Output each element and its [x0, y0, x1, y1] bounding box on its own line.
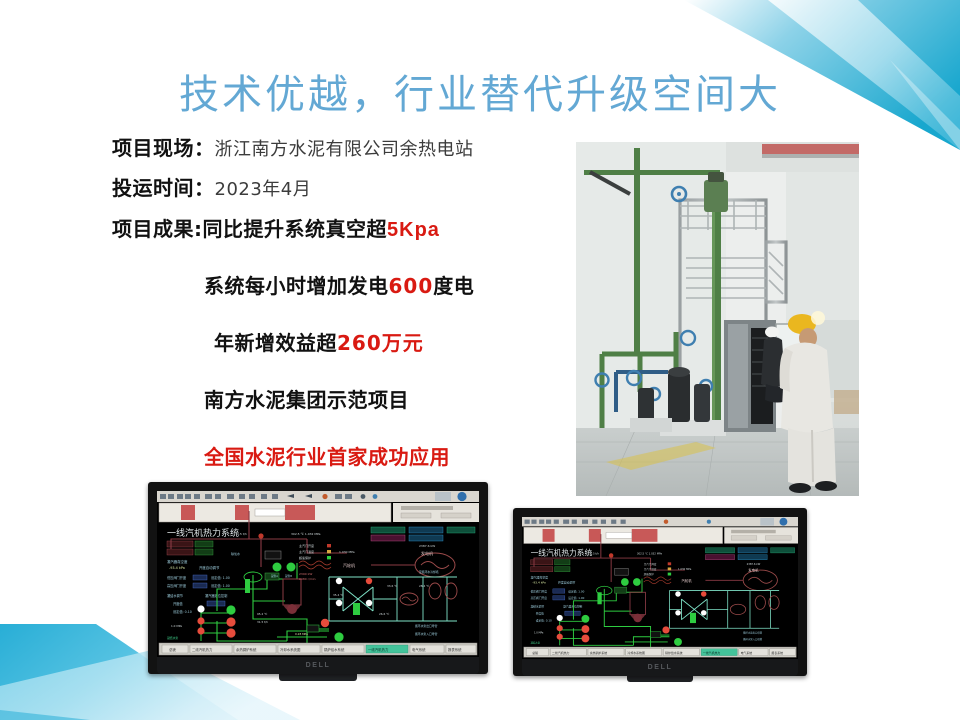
svg-text:至循环水冷却塔: 至循环水冷却塔 [419, 570, 439, 574]
svg-text:二线汽机热力: 二线汽机热力 [552, 650, 570, 655]
svg-text:冷却水系统图: 冷却水系统图 [280, 647, 301, 652]
site-value: 浙江南方水泥有限公司余热电站 [215, 139, 474, 160]
svg-text:设定值: 0.10: 设定值: 0.10 [173, 609, 192, 614]
svg-text:低压阀门开度: 低压阀门开度 [167, 575, 187, 580]
svg-text:一线汽机热力: 一线汽机热力 [703, 650, 721, 655]
svg-text:循环水泵入口母管: 循环水泵入口母管 [743, 637, 763, 641]
svg-text:高压阀门开度: 高压阀门开度 [167, 583, 187, 588]
svg-text:低压阀门开度: 低压阀门开度 [531, 589, 548, 593]
svg-text:除氧水: 除氧水 [231, 551, 240, 556]
svg-text:2387.6 kW: 2387.6 kW [747, 562, 761, 566]
svg-text:冷却水系统图: 冷却水系统图 [627, 650, 645, 655]
svg-text:凝汽器液位控制: 凝汽器液位控制 [563, 605, 582, 609]
svg-text:凝结水泵: 凝结水泵 [167, 636, 178, 640]
svg-text:凝汽器真空度: 凝汽器真空度 [167, 559, 188, 564]
svg-text:报表系统: 报表系统 [448, 647, 462, 652]
svg-text:发电机: 发电机 [748, 568, 759, 573]
svg-text:1.0 MPa: 1.0 MPa [534, 631, 544, 634]
svg-text:发电机: 发电机 [421, 550, 433, 556]
svg-text:开度自动调节: 开度自动调节 [199, 565, 220, 570]
svg-text:主汽门开度: 主汽门开度 [299, 543, 314, 548]
svg-text:凝汽器液位控制: 凝汽器液位控制 [205, 593, 227, 598]
svg-text:一线汽机热力系统: 一线汽机热力系统 [531, 548, 593, 558]
svg-text:1.030 MPa: 1.030 MPa [339, 550, 355, 554]
svg-text:95.2 ℃: 95.2 ℃ [257, 612, 267, 616]
date-label: 投运时间： [112, 176, 215, 200]
bullet-1-prefix: 系统每小时增加发电 [204, 274, 389, 298]
svg-text:开度自动调节: 开度自动调节 [558, 580, 576, 585]
svg-text:31.5 t/h: 31.5 t/h [257, 620, 268, 624]
bullet-1-highlight: 600 [389, 274, 434, 298]
svg-text:余热锅炉系统: 余热锅炉系统 [590, 650, 608, 655]
svg-text:锅炉给水系统: 锅炉给水系统 [665, 650, 683, 655]
monitor-1-brand-logo: DELL [306, 662, 331, 669]
bullet-4-prefix: 全国水泥行业首家成功应用 [204, 445, 450, 469]
svg-text:-93.4 kPa: -93.4 kPa [169, 566, 185, 570]
svg-text:35.4 ℃: 35.4 ℃ [333, 593, 343, 597]
svg-text:总貌: 总貌 [532, 650, 538, 655]
monitor-1: 一线汽机热力系统 凝汽器真空度 -93.4 kPa 开度自动调节 [148, 482, 488, 681]
bullet-item-3: 南方水泥集团示范项目 [112, 384, 582, 413]
svg-text:302.5 ℃ 1.032 MPa: 302.5 ℃ 1.032 MPa [637, 552, 663, 556]
svg-text:开度值: 开度值 [173, 601, 183, 606]
monitor-1-frame: 一线汽机热力系统 凝汽器真空度 -93.4 kPa 开度自动调节 [148, 482, 488, 674]
svg-text:循环水泵入口母管: 循环水泵入口母管 [415, 632, 438, 636]
svg-text:超速保护: 超速保护 [644, 572, 655, 576]
svg-text:0.5 t/h: 0.5 t/h [591, 552, 600, 556]
result-text: 同比提升系统真空超 [203, 217, 388, 241]
svg-text:设定值: 1.00: 设定值: 1.00 [568, 589, 584, 593]
svg-text:电气系统: 电气系统 [412, 647, 426, 652]
result-highlight: 5Kpa [387, 219, 440, 241]
svg-text:凝汽器真空度: 凝汽器真空度 [531, 575, 549, 580]
svg-text:开度值: 开度值 [536, 612, 544, 616]
svg-text:总貌: 总貌 [169, 647, 176, 652]
svg-text:0.5 t/h: 0.5 t/h [237, 532, 247, 536]
info-row-site: 项目现场：浙江南方水泥有限公司余热电站 [112, 138, 582, 159]
svg-text:循环水泵出口母管: 循环水泵出口母管 [415, 624, 438, 628]
page-title: 技术优越，行业替代升级空间大 [0, 62, 960, 120]
monitor-2-frame: 一线汽机热力系统 凝汽器真空度 -93.4 kPa 开度自动调节 低压阀门 [513, 508, 807, 676]
bullet-2-prefix: 年新增效益超 [214, 331, 337, 355]
svg-text:一线汽机热力系统: 一线汽机热力系统 [167, 527, 239, 539]
svg-text:28.4 ℃: 28.4 ℃ [419, 584, 429, 588]
info-row-result: 项目成果:同比提升系统真空超5Kpa [112, 219, 582, 240]
svg-text:-93.4 kPa: -93.4 kPa [532, 581, 546, 585]
svg-text:凝结水泵: 凝结水泵 [531, 641, 541, 645]
svg-text:循环水泵出口母管: 循环水泵出口母管 [743, 630, 763, 634]
svg-text:设定值: 1.00: 设定值: 1.00 [568, 596, 584, 600]
svg-text:汽轮机: 汽轮机 [343, 562, 355, 568]
svg-text:电气系统: 电气系统 [741, 650, 753, 655]
svg-text:0.28 MPa: 0.28 MPa [295, 632, 308, 636]
date-value: 2023年4月 [215, 179, 312, 200]
monitor-1-bezel: DELL [157, 657, 479, 674]
result-label: 项目成果: [112, 217, 203, 241]
monitor-1-screen[interactable]: 一线汽机热力系统 凝汽器真空度 -93.4 kPa 开度自动调节 [157, 491, 479, 657]
monitor-2-bezel: DELL [522, 659, 798, 676]
svg-text:26.6 ℃: 26.6 ℃ [379, 612, 389, 616]
bullet-item-2: 年新增效益超260万元 [112, 327, 582, 356]
svg-text:二线汽机热力: 二线汽机热力 [192, 647, 213, 652]
svg-text:超速保护: 超速保护 [299, 555, 311, 560]
info-text-block: 项目现场：浙江南方水泥有限公司余热电站 投运时间：2023年4月 项目成果:同比… [112, 138, 582, 470]
slide-canvas: 技术优越，行业替代升级空间大 项目现场：浙江南方水泥有限公司余热电站 投运时间：… [0, 0, 960, 720]
bullet-item-4: 全国水泥行业首家成功应用 [112, 441, 582, 470]
bullet-item-1: 系统每小时增加发电600度电 [112, 270, 582, 299]
svg-text:报表系统: 报表系统 [771, 650, 783, 655]
svg-text:凝泵B: 凝泵B [285, 574, 292, 578]
svg-text:2390 kW: 2390 kW [299, 572, 312, 576]
svg-text:余热锅炉系统: 余热锅炉系统 [236, 647, 257, 652]
svg-text:33.6 ℃: 33.6 ℃ [387, 584, 397, 588]
svg-text:凝泵A: 凝泵A [271, 574, 278, 578]
info-row-date: 投运时间：2023年4月 [112, 178, 582, 199]
svg-text:设定值: 0.10: 设定值: 0.10 [536, 618, 552, 622]
bullet-1-suffix: 度电 [433, 274, 474, 298]
svg-text:主汽门开度: 主汽门开度 [644, 562, 657, 566]
svg-text:凝结水调节: 凝结水调节 [531, 605, 545, 609]
monitor-2-stand [627, 676, 693, 682]
monitor-1-stand [279, 674, 357, 681]
svg-text:2387.6 kW: 2387.6 kW [419, 544, 435, 548]
svg-text:1.030 MPa: 1.030 MPa [678, 567, 692, 571]
svg-text:302.5 ℃ 1.032 MPa: 302.5 ℃ 1.032 MPa [291, 532, 321, 536]
bullet-3-prefix: 南方水泥集团示范项目 [204, 388, 409, 412]
svg-text:主汽门温度: 主汽门温度 [644, 567, 657, 571]
svg-text:汽轮机: 汽轮机 [681, 578, 692, 583]
svg-text:设定值: 1.00: 设定值: 1.00 [211, 575, 230, 580]
monitor-2-screen[interactable]: 一线汽机热力系统 凝汽器真空度 -93.4 kPa 开度自动调节 低压阀门 [522, 517, 798, 659]
monitor-2: 一线汽机热力系统 凝汽器真空度 -93.4 kPa 开度自动调节 低压阀门 [513, 508, 807, 682]
bullet-2-highlight: 260万元 [337, 331, 424, 355]
svg-text:一线汽机热力: 一线汽机热力 [368, 647, 389, 652]
monitor-2-brand-logo: DELL [648, 664, 673, 671]
svg-text:高压阀门开度: 高压阀门开度 [531, 596, 548, 600]
site-photo [576, 142, 859, 496]
site-label: 项目现场： [112, 136, 215, 160]
svg-text:1.0 MPa: 1.0 MPa [171, 624, 182, 628]
svg-text:锅炉给水系统: 锅炉给水系统 [324, 647, 345, 652]
svg-text:主汽门温度: 主汽门温度 [299, 549, 314, 554]
svg-text:凝结水调节: 凝结水调节 [167, 593, 184, 598]
svg-text:设定值: 1.00: 设定值: 1.00 [211, 583, 230, 588]
